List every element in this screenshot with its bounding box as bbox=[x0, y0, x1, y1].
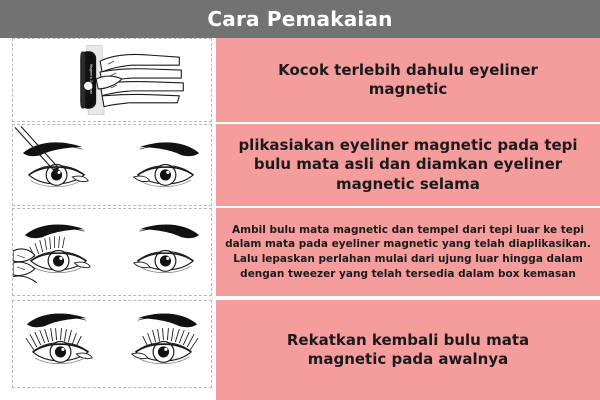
step-3-line-3: Lalu lepaskan perlahan mulai dari ujung … bbox=[233, 253, 583, 265]
step-3-line-2: dalam mata pada eyeliner magnetic yang t… bbox=[225, 238, 591, 250]
steps-list: Magnetic Eyeliner Kocok terleb bbox=[0, 38, 600, 400]
step-2-illustration-panel bbox=[12, 124, 212, 206]
step-2-line-3: magnetic selama bbox=[336, 175, 480, 193]
step-1-illustration-panel: Magnetic Eyeliner bbox=[12, 38, 212, 122]
eyes-with-full-lashes-icon bbox=[13, 301, 211, 387]
step-row-1: Magnetic Eyeliner Kocok terleb bbox=[0, 38, 600, 122]
step-2-line-2: bulu mata asli dan diamkan eyeliner bbox=[254, 155, 562, 173]
step-4-line-2: magnetic pada awalnya bbox=[308, 350, 509, 368]
step-row-4: Rekatkan kembali bulu mata magnetic pada… bbox=[0, 300, 600, 400]
step-row-2: plikasiakan eyeliner magnetic pada tepi … bbox=[0, 124, 600, 206]
page-title: Cara Pemakaian bbox=[207, 9, 392, 29]
step-1-line-2: magnetic bbox=[369, 80, 448, 98]
hand-holding-eyeliner-icon: Magnetic Eyeliner bbox=[13, 39, 211, 121]
eyes-with-hand-placing-lashes-icon bbox=[13, 209, 211, 295]
infographic-cara-pemakaian: Cara Pemakaian Magnetic Eyeliner bbox=[0, 0, 600, 400]
svg-text:Magnetic Eyeliner: Magnetic Eyeliner bbox=[89, 64, 93, 95]
step-3-line-1: Ambil bulu mata magnetic dan tempel dari… bbox=[232, 224, 584, 236]
step-1-text-panel: Kocok terlebih dahulu eyeliner magnetic bbox=[216, 38, 600, 122]
step-3-line-4: dengan tweezer yang telah tersedia dalam… bbox=[240, 268, 576, 280]
step-2-line-1: plikasiakan eyeliner magnetic pada tepi bbox=[238, 136, 577, 154]
eyes-with-applicator-icon bbox=[13, 125, 211, 205]
step-row-3: Ambil bulu mata magnetic dan tempel dari… bbox=[0, 208, 600, 296]
step-4-line-1: Rekatkan kembali bulu mata bbox=[287, 331, 529, 349]
step-1-line-1: Kocok terlebih dahulu eyeliner bbox=[278, 61, 538, 79]
step-2-text-panel: plikasiakan eyeliner magnetic pada tepi … bbox=[216, 124, 600, 206]
step-4-illustration-panel bbox=[12, 300, 212, 388]
header-bar: Cara Pemakaian bbox=[0, 0, 600, 38]
step-3-text-panel: Ambil bulu mata magnetic dan tempel dari… bbox=[216, 208, 600, 296]
step-3-illustration-panel bbox=[12, 208, 212, 296]
step-4-text-panel: Rekatkan kembali bulu mata magnetic pada… bbox=[216, 300, 600, 400]
